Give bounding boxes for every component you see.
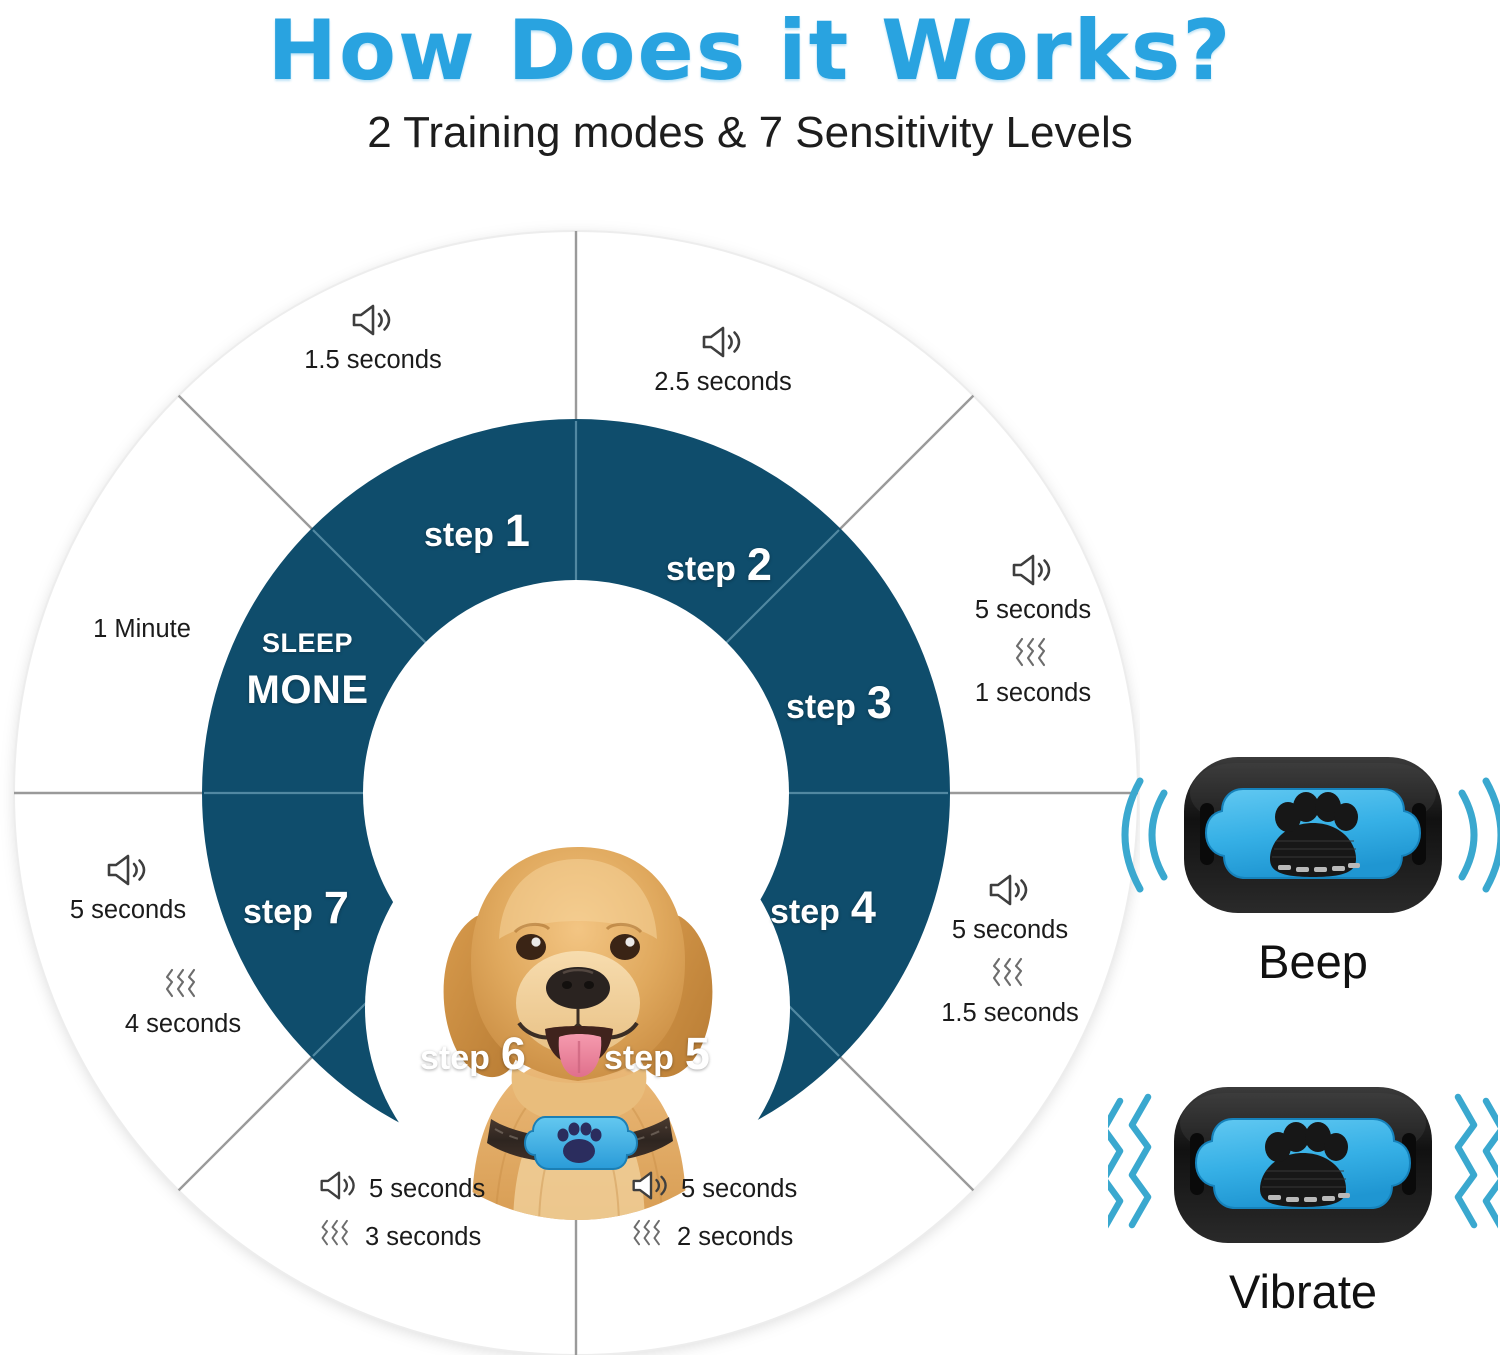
vibration-waves-icon <box>318 1218 356 1256</box>
step-word: step <box>786 688 856 727</box>
vibrate-duration-text: 4 seconds <box>78 1010 288 1039</box>
annotation-step-6: 5 seconds 3 seconds <box>318 1170 578 1257</box>
step-number: 7 <box>324 885 349 930</box>
annotation-step-4: 5 seconds 1.5 seconds <box>900 873 1120 1028</box>
annotation-step-7-vibrate: 4 seconds <box>78 967 288 1040</box>
step-label-6: step 6 <box>420 1031 526 1078</box>
beep-duration-text: 1.5 seconds <box>268 346 478 375</box>
vibration-waves-icon <box>900 956 1120 997</box>
step-number: 1 <box>505 508 530 553</box>
vibrate-duration-text: 3 seconds <box>365 1223 481 1252</box>
annotation-step-5: 5 seconds 2 seconds <box>630 1170 890 1257</box>
sleep-mode-label: SLEEP MONE <box>200 628 415 713</box>
annotation-sleep-duration: 1 Minute <box>62 615 222 644</box>
step-word: step <box>770 893 840 932</box>
step-label-4: step 4 <box>770 885 876 932</box>
step-label-1: step 1 <box>424 508 530 555</box>
vibration-wave-left <box>1108 1097 1148 1229</box>
speaker-icon <box>618 325 828 366</box>
speaker-icon <box>268 303 478 344</box>
dog-photo <box>365 795 790 1220</box>
vibrate-duration-text: 2 seconds <box>677 1223 793 1252</box>
step-label-3: step 3 <box>786 680 892 727</box>
device-vibrate: Vibrate <box>1108 1075 1498 1319</box>
step-word: step <box>666 550 736 589</box>
step-word: step <box>424 516 494 555</box>
vibration-wave-right <box>1458 1097 1498 1229</box>
beep-duration-text: 5 seconds <box>900 916 1120 945</box>
step-word: step <box>604 1039 674 1078</box>
sleep-duration-text: 1 Minute <box>62 615 222 644</box>
sound-wave-left <box>1125 781 1164 889</box>
infographic-page: How Does it Works? 2 Training modes & 7 … <box>0 0 1500 1353</box>
beep-row: 5 seconds <box>630 1170 890 1208</box>
step-number: 6 <box>501 1031 526 1076</box>
vibrate-row: 3 seconds <box>318 1218 578 1256</box>
speaker-icon <box>630 1170 672 1208</box>
vibrate-duration-text: 1.5 seconds <box>900 999 1120 1028</box>
sleep-mode-line1: SLEEP <box>200 628 415 659</box>
device-caption-vibrate: Vibrate <box>1108 1264 1498 1319</box>
annotation-step-1: 1.5 seconds <box>268 303 478 376</box>
beep-row: 5 seconds <box>318 1170 578 1208</box>
collar-device-on-dog <box>525 1117 637 1169</box>
vibration-waves-icon <box>928 636 1138 677</box>
vibration-waves-icon <box>630 1218 668 1256</box>
beep-duration-text: 5 seconds <box>369 1175 485 1204</box>
annotation-step-3: 5 seconds 1 seconds <box>928 553 1138 708</box>
step-word: step <box>420 1039 490 1078</box>
step-label-2: step 2 <box>666 542 772 589</box>
step-number: 4 <box>851 885 876 930</box>
step-word: step <box>243 893 313 932</box>
sound-wave-right <box>1462 781 1500 889</box>
training-wheel-diagram: step 1 step 2 step 3 step 4 step 5 step … <box>0 215 1140 1355</box>
step-number: 3 <box>867 680 892 725</box>
step-label-5: step 5 <box>604 1031 710 1078</box>
vibrate-device-graphic <box>1108 1075 1498 1255</box>
device-caption-beep: Beep <box>1118 934 1500 989</box>
speaker-icon <box>928 553 1138 594</box>
step-label-7: step 7 <box>243 885 349 932</box>
beep-duration-text: 5 seconds <box>28 896 228 925</box>
page-subtitle: 2 Training modes & 7 Sensitivity Levels <box>0 108 1500 158</box>
speaker-icon <box>900 873 1120 914</box>
annotation-step-7: 5 seconds <box>28 853 228 926</box>
beep-duration-text: 2.5 seconds <box>618 368 828 397</box>
page-title: How Does it Works? <box>0 2 1500 99</box>
sleep-mode-line2: MONE <box>200 668 415 713</box>
beep-duration-text: 5 seconds <box>928 596 1138 625</box>
step-number: 2 <box>747 542 772 587</box>
speaker-icon <box>318 1170 360 1208</box>
beep-duration-text: 5 seconds <box>681 1175 797 1204</box>
vibration-waves-icon <box>78 967 288 1008</box>
speaker-icon <box>28 853 228 894</box>
beep-device-graphic <box>1118 745 1500 925</box>
vibrate-duration-text: 1 seconds <box>928 679 1138 708</box>
annotation-step-2: 2.5 seconds <box>618 325 828 398</box>
device-beep: Beep <box>1118 745 1500 989</box>
vibrate-row: 2 seconds <box>630 1218 890 1256</box>
step-number: 5 <box>685 1031 710 1076</box>
